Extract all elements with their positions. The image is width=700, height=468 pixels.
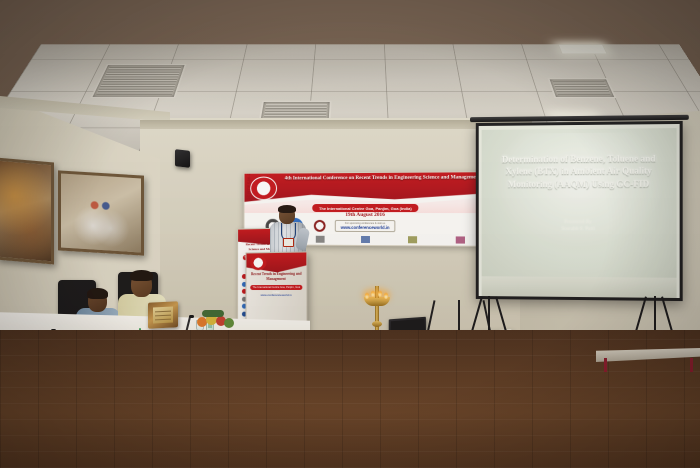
footer-logo-icon (408, 236, 417, 243)
screen-leg (635, 296, 647, 331)
fruit-basket (196, 310, 236, 330)
wall-painting-right (58, 170, 144, 255)
flame-icon (384, 292, 388, 299)
memento-plaque (148, 301, 178, 329)
wall-speaker-icon (175, 149, 190, 168)
flame-icon (365, 292, 369, 299)
banner-title: 4th International Conference on Recent T… (279, 174, 487, 183)
panelist-hair (87, 288, 108, 299)
podium-venue: The International Centre Goa, Panjim, Go… (250, 285, 302, 290)
banner-website-box: For upcoming conference & visit us www.c… (335, 220, 396, 233)
flame-icon (378, 290, 382, 297)
screen-leg (654, 296, 656, 330)
fruit (224, 318, 234, 328)
stage-floor (0, 330, 700, 468)
flame-icon (371, 290, 375, 297)
screen-lower-skirt (482, 276, 677, 298)
lamp-knob (372, 321, 382, 327)
podium-website: www.conferenceworld.in (246, 293, 306, 297)
footer-logo-icon (456, 236, 465, 243)
wall-painting-left (0, 157, 54, 264)
banner-website: www.conferenceworld.in (341, 225, 390, 230)
podium-title: Recent Trends in Engineering and Managem… (248, 272, 304, 282)
screen-leg (495, 296, 507, 331)
panelist-hair (130, 270, 153, 281)
conference-hall-photo: 4th International Conference on Recent T… (0, 0, 700, 468)
bench-leg (604, 358, 607, 372)
presenter-name: Sourabh S. Patil (505, 226, 653, 233)
banner-venue: The International Centre Goa, Panjim, Go… (312, 204, 419, 212)
bench-leg (690, 358, 693, 372)
conference-logo-icon (250, 177, 277, 201)
footer-logo-icon (315, 235, 324, 242)
foliage (202, 310, 224, 317)
screen-surface: Determination of Benzene, Toluene and Xy… (482, 128, 677, 278)
podium-logo-icon (250, 255, 266, 270)
screen-leg (488, 296, 490, 330)
presenter-hair (278, 205, 296, 213)
conference-badge-icon (283, 238, 294, 247)
footer-logo-icon (362, 235, 371, 242)
screen-leg (471, 296, 483, 331)
slide-presented-by: Presented By Sourabh S. Patil (505, 219, 653, 233)
slide-title: Determination of Benzene, Toluene and Xy… (497, 152, 661, 191)
screen-frame: Determination of Benzene, Toluene and Xy… (476, 121, 683, 301)
screen-leg (661, 296, 673, 331)
partner-logo-icon (314, 220, 326, 232)
banner-vertical-code: ICRTESM-2016 (246, 171, 251, 199)
projection-screen: Determination of Benzene, Toluene and Xy… (476, 121, 683, 301)
